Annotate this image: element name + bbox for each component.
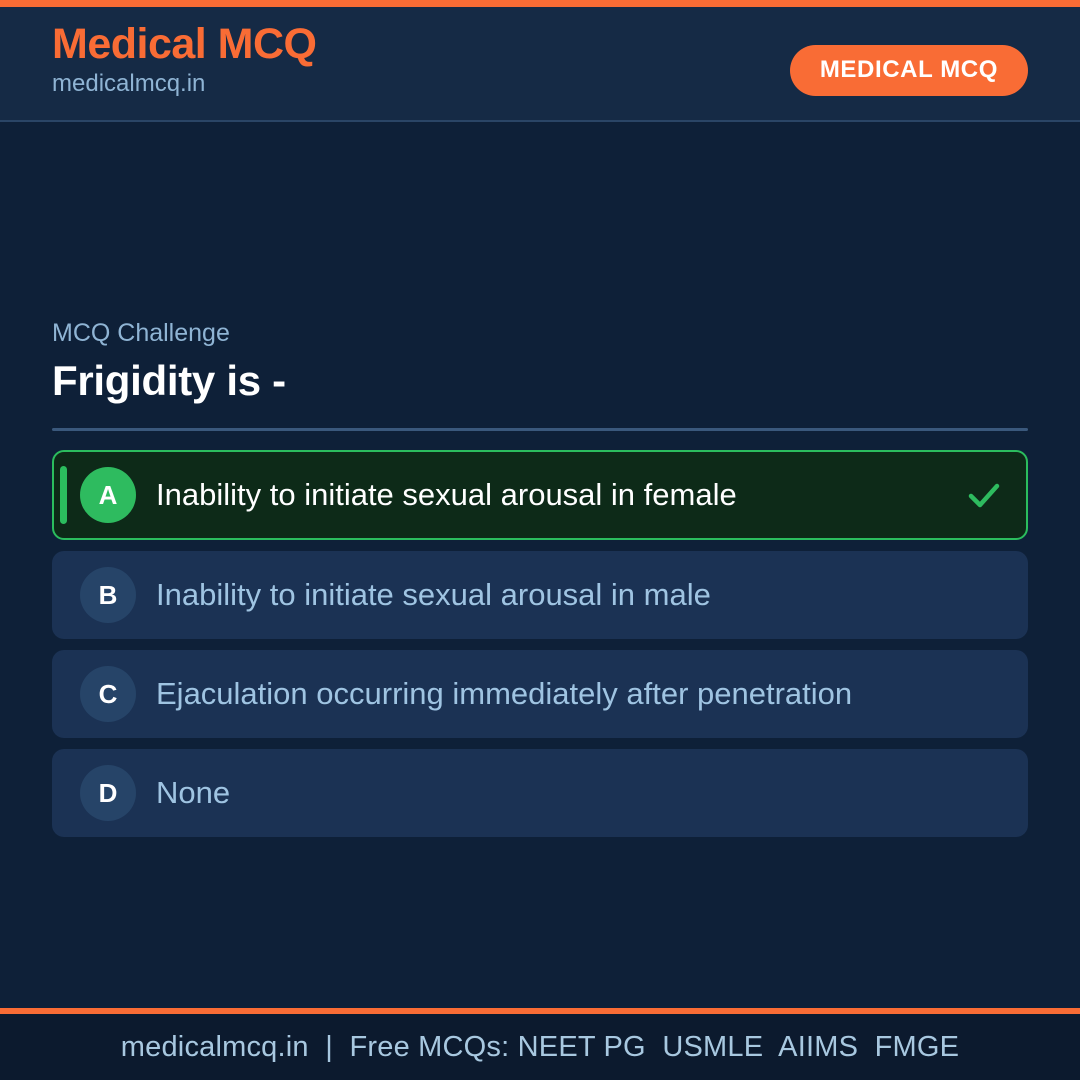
correct-accent-bar xyxy=(60,466,67,524)
option-a[interactable]: A Inability to initiate sexual arousal i… xyxy=(52,450,1028,540)
option-c-letter: C xyxy=(80,666,136,722)
question-divider xyxy=(52,428,1028,431)
option-c-text: Ejaculation occurring immediately after … xyxy=(156,671,1006,718)
option-b-text: Inability to initiate sexual arousal in … xyxy=(156,572,1006,619)
option-d-text: None xyxy=(156,770,1006,817)
brand-block: Medical MCQ medicalmcq.in xyxy=(52,21,317,98)
option-d[interactable]: D None xyxy=(52,749,1028,837)
brand-title: Medical MCQ xyxy=(52,21,317,67)
option-b[interactable]: B Inability to initiate sexual arousal i… xyxy=(52,551,1028,639)
brand-badge-pill: MEDICAL MCQ xyxy=(790,45,1028,96)
option-c[interactable]: C Ejaculation occurring immediately afte… xyxy=(52,650,1028,738)
option-d-letter: D xyxy=(80,765,136,821)
option-a-letter: A xyxy=(80,467,136,523)
options-list: A Inability to initiate sexual arousal i… xyxy=(52,450,1028,848)
question-kicker: MCQ Challenge xyxy=(52,318,1028,348)
option-b-letter: B xyxy=(80,567,136,623)
footer-text: medicalmcq.in | Free MCQs: NEET PG USMLE… xyxy=(121,1031,959,1064)
top-accent-bar xyxy=(0,0,1080,7)
check-icon xyxy=(964,475,1004,515)
option-a-text: Inability to initiate sexual arousal in … xyxy=(156,472,950,519)
page-header: Medical MCQ medicalmcq.in MEDICAL MCQ xyxy=(0,7,1080,122)
question-block: MCQ Challenge Frigidity is - xyxy=(52,318,1028,431)
question-title: Frigidity is - xyxy=(52,356,1028,406)
brand-domain: medicalmcq.in xyxy=(52,71,317,97)
page-footer: medicalmcq.in | Free MCQs: NEET PG USMLE… xyxy=(0,1008,1080,1080)
